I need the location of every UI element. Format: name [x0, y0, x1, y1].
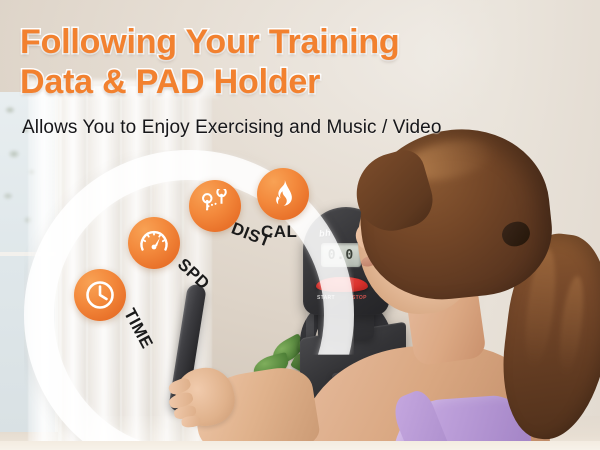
bottom-strip — [0, 441, 600, 450]
person-exercising — [330, 120, 600, 450]
clock-icon — [74, 269, 126, 321]
promo-banner: bh 0.0 START STOP — [0, 0, 600, 450]
headline: Following Your Training Data & PAD Holde… — [20, 22, 580, 102]
headline-line-1: Following Your Training — [20, 22, 580, 62]
metric-label-cal: CAL — [261, 222, 297, 242]
headline-line-2: Data & PAD Holder — [20, 62, 580, 102]
speedometer-icon — [128, 217, 180, 269]
flame-icon — [257, 168, 309, 220]
subtitle: Allows You to Enjoy Exercising and Music… — [22, 117, 442, 139]
